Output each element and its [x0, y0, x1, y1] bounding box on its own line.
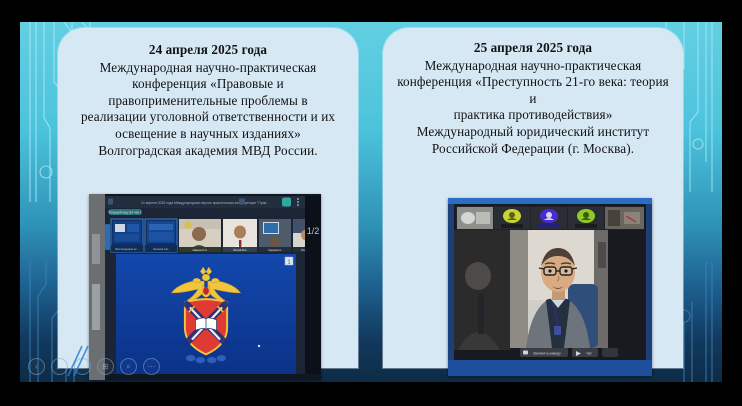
zoom-button[interactable]: ⌕	[120, 358, 137, 375]
photo-video-conference-volgograd: 24 апреля 2025 года Международная научно…	[89, 194, 321, 380]
pen-icon: ✎	[79, 362, 86, 371]
panel-right-line-1: конференция «Преступность 21-го века: те…	[393, 74, 673, 107]
chevron-left-icon: ‹	[35, 362, 38, 371]
panel-left-line-1: конференция «Правовые и	[68, 76, 348, 93]
slide-menu-button[interactable]: ⊞	[97, 358, 114, 375]
panel-left-date-heading: 24 апреля 2025 года	[68, 42, 348, 59]
svg-text:1: 1	[288, 260, 291, 266]
panel-left-line-5: Волгоградская академия МВД России.	[68, 143, 348, 160]
magnifier-icon: ⌕	[126, 362, 130, 372]
svg-text:Петров В.А.: Петров В.А.	[233, 248, 248, 252]
svg-text:Включить камеру: Включить камеру	[533, 352, 561, 356]
grid-icon: ⊞	[102, 362, 109, 371]
panel-left-line-3: реализации уголовной ответственности и и…	[68, 109, 348, 126]
svg-text:Волгоградская ак...: Волгоградская ак...	[115, 247, 138, 251]
svg-text:Сидоров Н.: Сидоров Н.	[268, 248, 282, 252]
pen-button[interactable]: ✎	[74, 358, 91, 375]
panel-left-line-2: правоприменительные проблемы в	[68, 93, 348, 110]
ellipsis-icon: ⋯	[148, 362, 156, 371]
photo-video-conference-moscow: Включить камеру Чат	[448, 198, 652, 376]
panel-left-text: 24 апреля 2025 года Международная научно…	[58, 28, 358, 159]
panel-right-line-4: Российской Федерации (г. Москва).	[393, 141, 673, 158]
next-slide-button[interactable]: ›	[51, 358, 68, 375]
previous-slide-button[interactable]: ‹	[28, 358, 45, 375]
more-options-button[interactable]: ⋯	[143, 358, 160, 375]
svg-text:Иванов П.С.: Иванов П.С.	[193, 248, 208, 252]
svg-text:Кононов А.Н.: Кононов А.Н.	[153, 247, 169, 251]
panel-left-line-4: освещение в научных изданиях»	[68, 126, 348, 143]
presentation-toolbar[interactable]: ‹ › ✎ ⊞ ⌕ ⋯	[28, 358, 160, 375]
chevron-right-icon: ›	[58, 362, 61, 371]
slide-canvas: 24 апреля 2025 года Международная научно…	[20, 22, 722, 382]
panel-left-line-0: Международная научно-практическая	[68, 60, 348, 77]
panel-right-line-3: Международный юридический институт	[393, 124, 673, 141]
presentation-viewport: 24 апреля 2025 года Международная научно…	[0, 0, 742, 406]
svg-text:Текущий вид (14 чел.): Текущий вид (14 чел.)	[109, 211, 141, 215]
panel-right-date-heading: 25 апреля 2025 года	[393, 40, 673, 57]
svg-text:Чат: Чат	[586, 352, 592, 356]
svg-text:1/2: 1/2	[307, 226, 320, 236]
panel-right-text: 25 апреля 2025 года Международная научно…	[383, 28, 683, 157]
panel-right-line-2: практика противодействия»	[393, 107, 673, 124]
panel-right-line-0: Международная научно-практическая	[393, 58, 673, 75]
svg-text:24 апреля 2025 года Международ: 24 апреля 2025 года Международная научно…	[141, 201, 269, 205]
